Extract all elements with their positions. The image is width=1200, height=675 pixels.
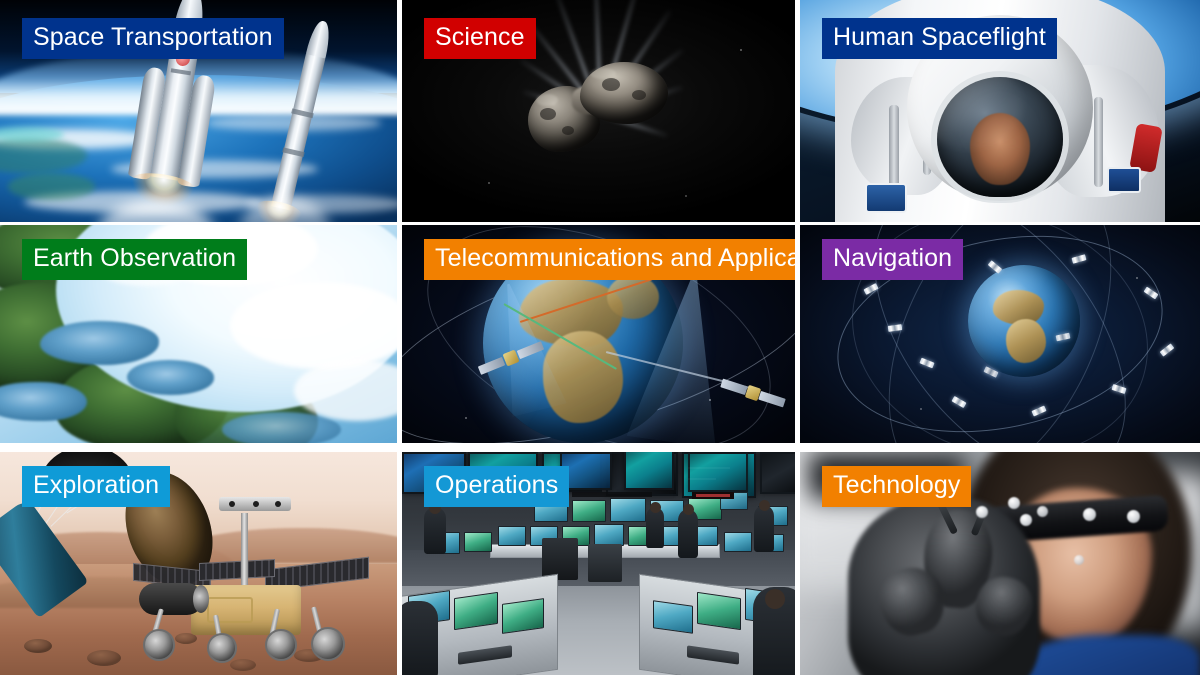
tile-human-spaceflight[interactable]: Human Spaceflight: [800, 0, 1200, 222]
tile-label-human-spaceflight[interactable]: Human Spaceflight: [822, 18, 1057, 59]
tile-space-transportation[interactable]: Space Transportation: [0, 0, 397, 222]
tile-telecommunications[interactable]: Telecommunications and Applications: [402, 225, 795, 443]
tile-label-earth-observation[interactable]: Earth Observation: [22, 239, 247, 280]
tile-exploration[interactable]: Exploration: [0, 452, 397, 675]
tile-label-technology[interactable]: Technology: [822, 466, 971, 507]
tile-grid: Space Transportation: [0, 0, 1200, 675]
tile-label-telecommunications[interactable]: Telecommunications and Applications: [424, 239, 795, 280]
tile-science[interactable]: Science: [402, 0, 795, 222]
tile-label-space-transportation[interactable]: Space Transportation: [22, 18, 284, 59]
tile-label-navigation[interactable]: Navigation: [822, 239, 963, 280]
tile-technology[interactable]: Technology: [800, 452, 1200, 675]
tile-label-exploration[interactable]: Exploration: [22, 466, 170, 507]
tile-earth-observation[interactable]: Earth Observation: [0, 225, 397, 443]
tile-label-operations[interactable]: Operations: [424, 466, 569, 507]
tile-operations[interactable]: Operations: [402, 452, 795, 675]
tile-label-science[interactable]: Science: [424, 18, 536, 59]
tile-navigation[interactable]: Navigation: [800, 225, 1200, 443]
